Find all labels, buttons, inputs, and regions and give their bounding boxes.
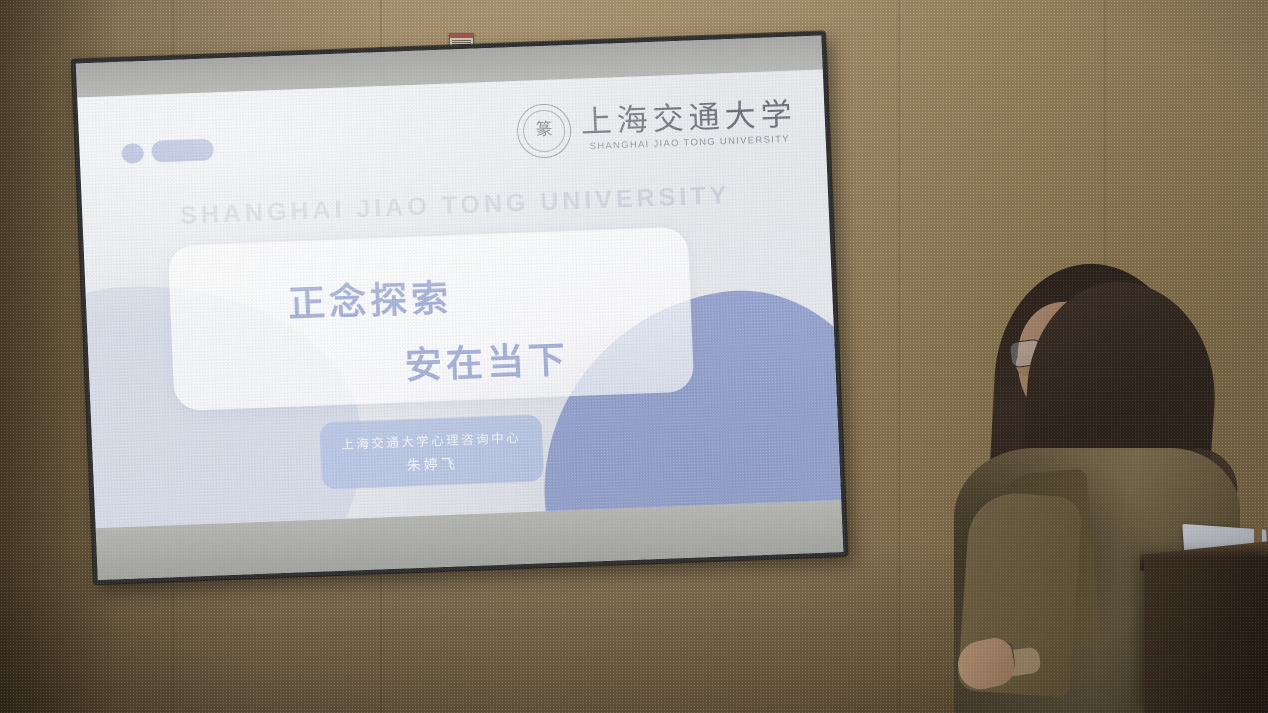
photo-scene: SHANGHAI JIAO TONG UNIVERSITY 篆 上海交通大学 S…	[0, 0, 1268, 713]
slide-organization: 上海交通大学心理咨询中心	[341, 427, 522, 453]
decorative-dot-icon	[121, 143, 144, 164]
slide-title-line-1: 正念探索	[287, 268, 453, 328]
podium	[1144, 556, 1268, 713]
university-wordmark: 上海交通大学 SHANGHAI JIAO TONG UNIVERSITY	[580, 98, 798, 153]
slide-subtitle-card: 上海交通大学心理咨询中心 朱婷飞	[319, 414, 544, 489]
university-logo: 篆 上海交通大学 SHANGHAI JIAO TONG UNIVERSITY	[516, 95, 798, 159]
slide-presenter-name: 朱婷飞	[406, 453, 458, 475]
university-seal-icon: 篆	[516, 103, 572, 159]
decorative-pill-icon	[151, 138, 214, 162]
slide-title-card: 正念探索 安在当下	[168, 227, 695, 411]
projection-screen: SHANGHAI JIAO TONG UNIVERSITY 篆 上海交通大学 S…	[62, 0, 860, 591]
presentation-slide: SHANGHAI JIAO TONG UNIVERSITY 篆 上海交通大学 S…	[77, 69, 841, 528]
slide-title-line-2: 安在当下	[404, 329, 570, 389]
screen-frame: SHANGHAI JIAO TONG UNIVERSITY 篆 上海交通大学 S…	[72, 31, 848, 584]
screen-surface: SHANGHAI JIAO TONG UNIVERSITY 篆 上海交通大学 S…	[76, 36, 844, 581]
university-name-chinese: 上海交通大学	[580, 98, 797, 139]
seal-glyph: 篆	[535, 121, 553, 139]
slide-watermark: SHANGHAI JIAO TONG UNIVERSITY	[97, 178, 814, 234]
